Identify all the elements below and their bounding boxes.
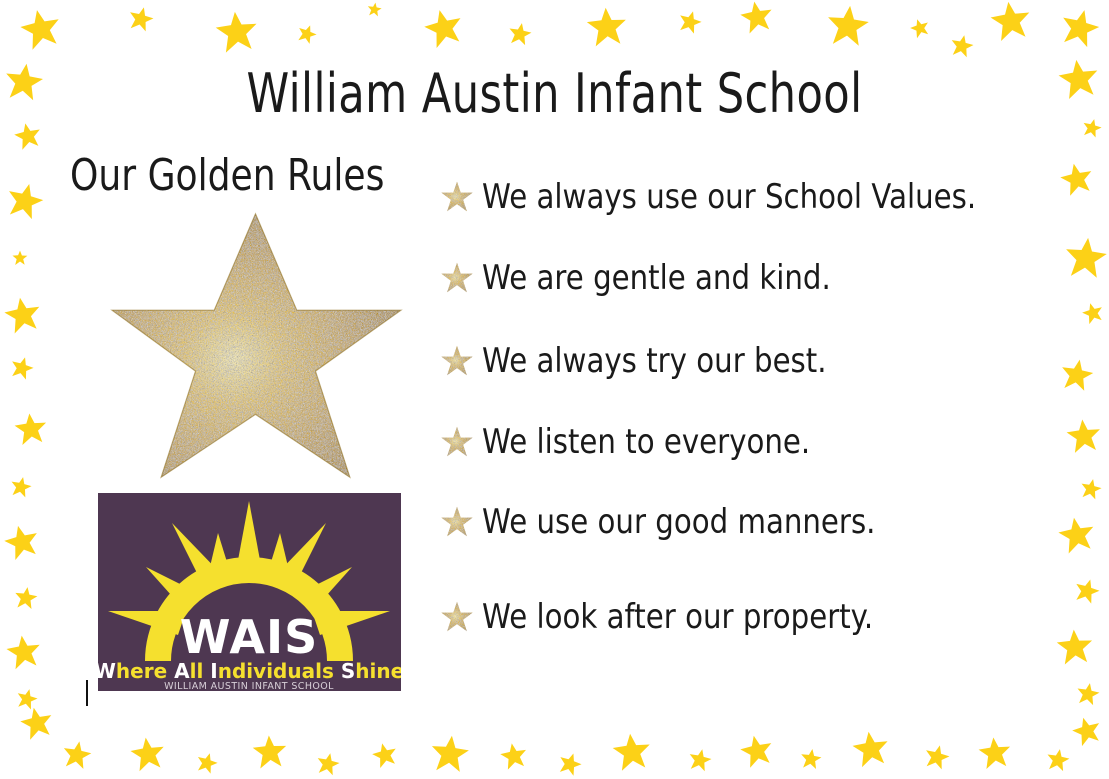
border-star-top-8 [585,5,630,50]
rule-item-2: We are gentle and kind. [440,261,888,295]
border-star-bottom-15 [850,728,893,771]
border-star-top-13 [948,32,976,60]
border-star-left-10 [12,584,39,611]
border-star-top-15 [1056,4,1104,52]
border-star-bottom-11 [610,730,654,774]
border-star-bottom-10 [555,749,585,779]
rule-item-6: We look after our property. [440,600,937,634]
border-star-left-12 [14,686,41,713]
border-star-top-4 [294,21,320,47]
rule-item-1: We always use our School Values. [440,180,1057,214]
border-star-top-9 [675,7,705,37]
large-gold-glitter-star-icon [108,206,403,491]
border-star-right-8 [1078,476,1104,502]
gold-glitter-star-icon [440,344,474,378]
border-star-right-2 [1080,116,1104,140]
border-star-bottom-12 [686,746,714,774]
border-star-left-1 [1,59,46,104]
border-star-top-2 [125,3,157,35]
logo-acronym: WAIS [180,610,319,664]
golden-rules-poster: William Austin Infant School Our Golden … [0,0,1109,779]
border-star-right-7 [1064,416,1104,456]
border-star-left-6 [7,353,37,383]
border-star-right-6 [1057,355,1096,394]
border-star-bottom-1 [17,703,57,743]
border-star-top-14 [987,0,1034,45]
border-star-left-5 [1,293,45,337]
gold-glitter-star-icon [440,505,474,539]
border-star-left-3 [2,178,48,224]
border-star-bottom-2 [60,738,95,773]
rule-text: We use our good manners. [482,505,875,539]
border-star-left-4 [12,250,28,266]
border-star-right-3 [1057,159,1097,199]
border-star-top-12 [907,15,932,40]
rule-item-4: We listen to everyone. [440,425,864,459]
rule-text: We listen to everyone. [482,425,810,459]
border-star-bottom-9 [498,740,530,772]
logo-tagline: Where All Individuals Shine [98,659,401,683]
border-star-right-11 [1055,627,1096,668]
gold-glitter-star-icon [440,600,474,634]
school-logo: WAIS Where All Individuals Shine WILLIAM… [98,493,401,691]
logo-footer-text: WILLIAM AUSTIN INFANT SCHOOL [164,681,334,691]
border-star-bottom-8 [428,732,472,776]
rule-item-5: We use our good manners. [440,505,940,539]
border-star-right-5 [1079,299,1106,326]
border-star-right-12 [1074,680,1102,708]
border-star-bottom-19 [1068,712,1105,749]
rule-text: We are gentle and kind. [482,261,831,295]
border-star-top-6 [420,4,468,52]
page-title: William Austin Infant School [111,62,998,125]
border-star-left-8 [8,474,34,500]
border-star-left-7 [12,410,49,447]
border-star-bottom-13 [737,731,777,771]
border-star-bottom-3 [128,734,169,775]
border-star-top-11 [824,2,872,50]
border-star-right-10 [1071,575,1103,607]
border-star-left-2 [11,119,44,152]
border-star-bottom-6 [314,750,342,778]
border-star-top-7 [506,20,534,48]
border-star-bottom-4 [193,749,220,776]
border-star-top-5 [366,1,383,18]
border-star-left-11 [4,632,45,673]
section-heading-golden-rules: Our Golden Rules [70,150,384,201]
rule-text: We always try our best. [482,344,827,378]
rule-text: We look after our property. [482,600,873,634]
border-star-bottom-5 [251,733,289,771]
stray-text-cursor-mark [86,680,88,706]
border-star-bottom-16 [921,741,953,773]
border-star-bottom-17 [976,734,1013,771]
gold-glitter-star-icon [440,425,474,459]
border-star-bottom-18 [1044,746,1072,774]
gold-glitter-star-icon [440,261,474,295]
rule-item-3: We always try our best. [440,344,883,378]
border-star-top-1 [16,4,66,54]
border-star-bottom-14 [799,747,824,772]
rule-text: We always use our School Values. [482,180,976,214]
gold-glitter-star-icon [440,180,474,214]
border-star-top-10 [737,0,776,37]
border-star-bottom-7 [369,739,401,771]
border-star-right-9 [1055,513,1099,557]
border-star-left-9 [0,520,44,564]
border-star-right-4 [1062,234,1109,282]
border-star-top-3 [213,8,261,56]
border-star-right-1 [1055,55,1102,102]
